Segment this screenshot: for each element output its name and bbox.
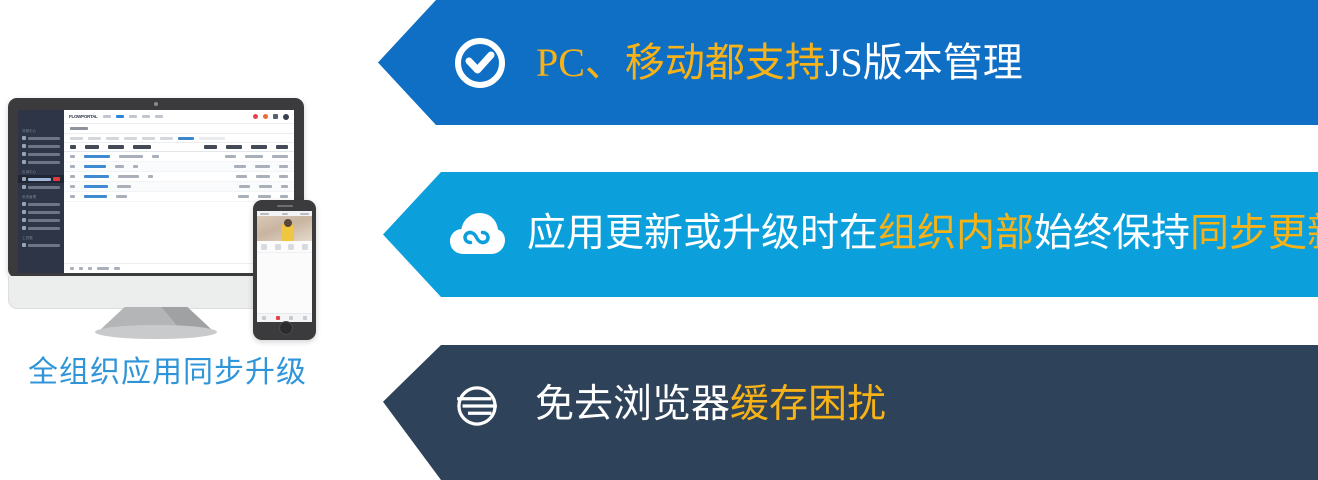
mini-row-cell xyxy=(256,175,270,178)
mini-row-cell xyxy=(148,175,153,178)
illustration-caption: 全组织应用同步升级 xyxy=(28,347,328,391)
mini-table-row xyxy=(64,162,294,172)
mini-item-icon xyxy=(22,185,26,189)
mini-row-cell xyxy=(258,195,271,198)
feature-banner-js-version: PC、移动都支持JS版本管理 xyxy=(378,0,1318,125)
mini-table-row xyxy=(64,152,294,162)
mini-row-cell xyxy=(279,165,288,168)
mini-sidebar-item xyxy=(18,208,64,216)
phone-tab-item xyxy=(262,316,266,320)
banner-2-segment-2: 组织内部 xyxy=(878,212,1034,255)
mini-item-label xyxy=(28,219,60,222)
mini-row-cell xyxy=(116,195,127,198)
mini-nav-item-active xyxy=(116,115,124,118)
mini-toolbar-button xyxy=(88,137,101,140)
mini-row-checkbox xyxy=(70,185,75,188)
mini-sidebar-item xyxy=(18,183,64,191)
mini-row-cell xyxy=(238,195,249,198)
mini-row-checkbox xyxy=(70,175,75,178)
mini-item-label xyxy=(28,203,60,206)
mini-row-cell xyxy=(84,195,107,198)
mini-item-label xyxy=(28,145,60,148)
mini-brand-logo: FLOWPORTAL xyxy=(69,114,98,119)
mini-item-icon xyxy=(22,202,26,206)
mini-row-cell xyxy=(279,175,288,178)
mini-row-cell xyxy=(84,155,110,158)
banner-2-text: 应用更新或升级时在组织内部始终保持同步更新 xyxy=(527,213,1318,256)
mini-row-checkbox xyxy=(70,195,75,198)
mini-sidebar-item-active xyxy=(18,175,64,183)
quick-action-icon xyxy=(261,244,267,250)
feature-banner-sync-update: 应用更新或升级时在组织内部始终保持同步更新 xyxy=(383,172,1318,297)
device-illustration: 流程中心 应用中心 系统管理 工具箱 FLOWPORTAL xyxy=(0,0,375,480)
banner-1-text: PC、移动都支持JS版本管理 xyxy=(536,41,1023,85)
mini-page-number xyxy=(79,267,83,270)
mini-sidebar-item xyxy=(18,241,64,249)
mini-sidebar-group-1: 流程中心 xyxy=(18,125,64,134)
mini-sidebar-item xyxy=(18,158,64,166)
mini-item-icon xyxy=(22,177,26,181)
mini-table-row xyxy=(64,182,294,192)
check-circle-icon xyxy=(452,35,508,91)
banner-2-segment-1: 应用更新或升级时在 xyxy=(527,212,878,255)
mini-row-cell xyxy=(255,165,270,168)
mini-sidebar-item xyxy=(18,134,64,142)
mobile-phone xyxy=(253,200,316,340)
mini-topbar: FLOWPORTAL xyxy=(64,110,294,124)
quick-action-icon xyxy=(302,244,308,250)
mini-header-cell xyxy=(251,145,267,148)
mini-row-cell xyxy=(84,165,106,168)
mini-item-icon xyxy=(22,144,26,148)
phone-hero-banner xyxy=(257,216,312,241)
mini-item-icon xyxy=(22,218,26,222)
phone-tab-item xyxy=(303,316,307,320)
banner-2-segment-3: 始终保持 xyxy=(1034,212,1190,255)
mini-item-icon xyxy=(22,160,26,164)
mini-sidebar-item xyxy=(18,142,64,150)
mini-header-cell xyxy=(85,145,99,148)
mini-notification-icon xyxy=(253,114,258,119)
mini-item-label xyxy=(28,227,60,230)
mini-row-cell xyxy=(272,155,288,158)
mini-item-icon xyxy=(22,152,26,156)
mini-sidebar-item xyxy=(18,150,64,158)
cache-clear-icon xyxy=(449,378,505,434)
mini-header-cell xyxy=(108,145,124,148)
mini-toolbar xyxy=(64,134,294,143)
mini-app-sidebar: 流程中心 应用中心 系统管理 工具箱 xyxy=(18,110,64,273)
phone-battery xyxy=(300,213,309,215)
mini-page-prev xyxy=(70,267,74,270)
quick-action-icon xyxy=(275,244,281,250)
mini-table-row xyxy=(64,172,294,182)
mini-row-cell xyxy=(225,155,236,158)
cloud-infinity-icon xyxy=(449,207,505,263)
banner-1-segment-2: JS版本管理 xyxy=(825,40,1023,85)
mini-item-label xyxy=(28,211,60,214)
mini-sidebar-group-4: 工具箱 xyxy=(18,232,64,241)
mini-item-icon xyxy=(22,243,26,247)
mini-row-cell xyxy=(84,185,108,188)
mini-sidebar-item xyxy=(18,224,64,232)
mini-item-icon xyxy=(22,210,26,214)
mini-row-checkbox xyxy=(70,155,75,158)
mini-row-cell xyxy=(259,185,272,188)
mini-item-label xyxy=(28,178,51,181)
mini-toolbar-button xyxy=(142,137,155,140)
mini-row-cell xyxy=(84,175,109,178)
mini-header-cell xyxy=(204,145,217,148)
phone-carrier xyxy=(260,213,269,215)
mini-item-label xyxy=(28,137,60,140)
phone-home-button xyxy=(279,321,293,335)
mini-breadcrumb xyxy=(64,124,294,134)
mini-row-cell xyxy=(239,185,250,188)
phone-app-grid-2 xyxy=(257,269,312,271)
mini-sidebar-group-3: 系统管理 xyxy=(18,191,64,200)
mini-toolbar-button xyxy=(124,137,137,140)
mini-row-cell xyxy=(152,155,159,158)
mini-row-cell xyxy=(115,165,124,168)
mini-page-size xyxy=(97,267,109,270)
banner-3-text: 免去浏览器缓存困扰 xyxy=(535,384,886,427)
mini-sidebar-brand xyxy=(18,112,64,125)
mini-toolbar-primary-button xyxy=(178,137,194,140)
mini-item-icon xyxy=(22,136,26,140)
mini-row-checkbox xyxy=(70,165,75,168)
mini-sidebar-group-2: 应用中心 xyxy=(18,166,64,175)
banner-2-segment-4: 同步更新 xyxy=(1190,212,1318,255)
mini-apps-icon xyxy=(273,114,278,119)
mini-toolbar-button xyxy=(106,137,119,140)
mini-header-checkbox xyxy=(70,145,76,148)
mini-sidebar-item xyxy=(18,200,64,208)
mini-row-cell xyxy=(119,155,143,158)
mini-sidebar-item xyxy=(18,216,64,224)
quick-action-icon xyxy=(288,244,294,250)
mini-nav-item xyxy=(155,115,163,118)
mini-item-label xyxy=(28,244,60,247)
mini-row-cell xyxy=(280,195,288,198)
mini-page-next xyxy=(88,267,92,270)
phone-quick-actions xyxy=(257,241,312,253)
phone-tab-item-active xyxy=(276,316,280,320)
mini-row-cell xyxy=(236,175,247,178)
mini-toolbar-button xyxy=(160,137,173,140)
mini-nav-item xyxy=(103,115,111,118)
mini-item-badge xyxy=(53,177,60,181)
phone-tab-item xyxy=(289,316,293,320)
mini-item-label xyxy=(28,153,60,156)
mini-nav-item xyxy=(129,115,137,118)
mini-row-cell xyxy=(118,175,139,178)
banner-3-segment-1: 免去浏览器 xyxy=(535,383,730,426)
banner-1-segment-1: PC、移动都支持 xyxy=(536,40,825,85)
phone-hero-head xyxy=(284,219,292,227)
feature-banner-no-cache: 免去浏览器缓存困扰 xyxy=(383,345,1318,480)
phone-speaker xyxy=(277,205,293,207)
phone-clock xyxy=(282,213,288,215)
mini-header-cell xyxy=(276,145,288,148)
mini-row-cell xyxy=(281,185,288,188)
mini-header-cell xyxy=(133,145,151,148)
mini-search-input xyxy=(199,137,225,140)
mini-item-icon xyxy=(22,226,26,230)
monitor-stand-base xyxy=(95,325,217,339)
mini-avatar xyxy=(283,114,289,120)
phone-screen xyxy=(257,211,312,322)
mini-item-label xyxy=(28,161,60,164)
mini-nav-item xyxy=(142,115,150,118)
mini-table-header xyxy=(64,143,294,152)
mini-alert-icon xyxy=(263,114,268,119)
mini-item-label xyxy=(28,186,60,189)
webcam-dot xyxy=(154,102,158,106)
mini-page-jump xyxy=(114,267,120,270)
mini-toolbar-button xyxy=(70,137,83,140)
mini-row-cell xyxy=(133,165,138,168)
mini-header-cell xyxy=(226,145,242,148)
mini-row-cell xyxy=(117,185,131,188)
banner-3-segment-2: 缓存困扰 xyxy=(730,383,886,426)
mini-row-cell xyxy=(234,165,246,168)
mini-row-cell xyxy=(245,155,263,158)
mini-breadcrumb-label xyxy=(70,127,88,130)
